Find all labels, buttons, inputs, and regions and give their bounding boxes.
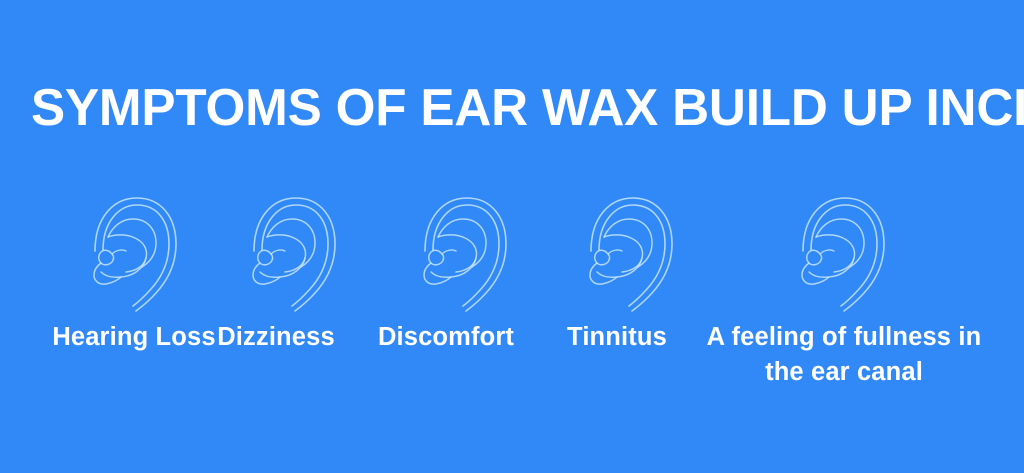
ear-outline-icon (249, 192, 345, 314)
symptom-label: Dizziness (196, 320, 356, 355)
symptom-label: A feeling of fullness in the ear canal (706, 320, 982, 390)
symptom-item-dizziness: Dizziness (212, 192, 338, 397)
symptom-label: Discomfort (372, 320, 520, 355)
symptom-item-hearing-loss: Hearing Loss (40, 192, 190, 397)
ear-wax-symptoms-infographic: SYMPTOMS OF EAR WAX BUILD UP INCLUDE.. H… (0, 0, 1024, 473)
symptom-item-tinnitus: Tinnitus (562, 192, 670, 397)
symptom-item-discomfort: Discomfort (372, 192, 520, 397)
page-title: SYMPTOMS OF EAR WAX BUILD UP INCLUDE.. (31, 80, 982, 138)
ear-outline-icon (798, 192, 894, 314)
ear-outline-icon (420, 192, 516, 314)
symptom-item-fullness-in-ear-canal: A feeling of fullness in the ear canal (706, 192, 982, 397)
ear-outline-icon (586, 192, 682, 314)
symptom-label: Tinnitus (550, 320, 684, 355)
symptom-list: Hearing Loss Dizziness (0, 192, 1024, 402)
ear-outline-icon (90, 192, 186, 314)
